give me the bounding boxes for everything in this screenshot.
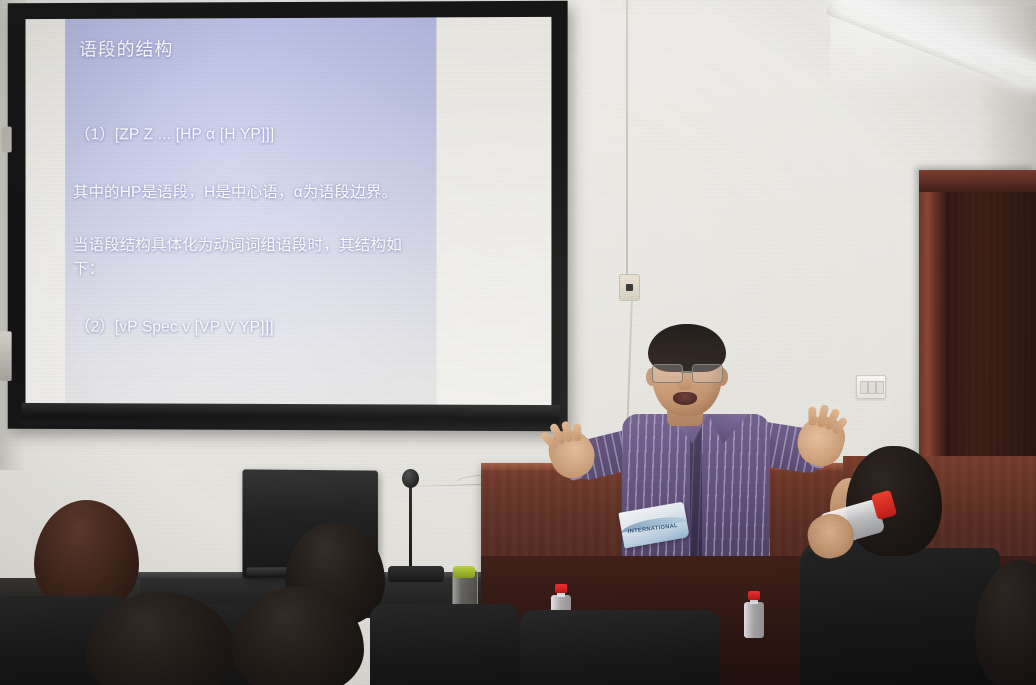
slide-line-2: 其中的HP是语段，H是中心语，α为语段边界。 xyxy=(73,180,397,202)
slide-line-4: 下： xyxy=(73,257,104,279)
slide-content: 语段的结构 （1）[ZP Z ... [HP α [H YP]]] 其中的HP是… xyxy=(65,17,436,408)
glasses-icon xyxy=(650,364,724,381)
slide-line-5: （2）[vP Spec v [VP V YP]]] xyxy=(75,315,274,337)
microphone-icon xyxy=(402,469,419,488)
projected-slide: 语段的结构 （1）[ZP Z ... [HP α [H YP]]] 其中的HP是… xyxy=(65,17,436,408)
presenter-mouth xyxy=(673,392,697,405)
audience-member-drinking xyxy=(770,430,1000,685)
slide-line-1: （1）[ZP Z ... [HP α [H YP]]] xyxy=(75,122,274,144)
screen-mount-lower xyxy=(0,331,12,381)
hanging-cord xyxy=(626,0,628,276)
wall-outlet[interactable] xyxy=(619,274,640,301)
drinker-torso xyxy=(800,548,1000,685)
thermos-cap xyxy=(453,566,475,578)
screen-mount xyxy=(2,127,12,153)
door-header xyxy=(919,170,1036,192)
screen-bottom-bar xyxy=(22,403,560,427)
screen-surface: 语段的结构 （1）[ZP Z ... [HP α [H YP]]] 其中的HP是… xyxy=(26,17,552,409)
drinker-head xyxy=(846,446,942,556)
slide-line-3: 当语段结构具体化为动词词组语段时，其结构如 xyxy=(73,233,402,255)
microphone-base xyxy=(388,566,444,582)
slide-title: 语段的结构 xyxy=(79,35,173,61)
light-switch[interactable] xyxy=(856,375,886,399)
microphone-stem xyxy=(409,481,412,574)
water-bottle xyxy=(744,592,764,638)
lecture-hall-photo: 语段的结构 （1）[ZP Z ... [HP α [H YP]]] 其中的HP是… xyxy=(0,0,1036,685)
projector-screen: 语段的结构 （1）[ZP Z ... [HP α [H YP]]] 其中的HP是… xyxy=(8,1,568,432)
chair xyxy=(520,610,720,685)
chair xyxy=(370,604,520,685)
